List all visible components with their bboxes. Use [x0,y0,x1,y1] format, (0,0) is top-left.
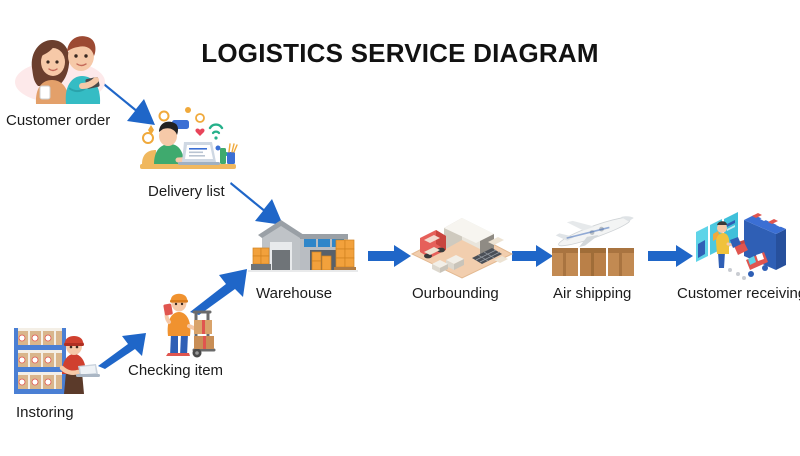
node-label-air-shipping: Air shipping [553,285,631,302]
arrow-air-shipping-to-customer-receiving [648,244,694,268]
airplane-over-cardboard-boxes-icon [546,212,642,280]
worker-with-clipboard-and-hand-truck-icon [156,286,218,358]
node-label-instoring: Instoring [16,404,74,421]
arrow-warehouse-to-ourbounding [368,244,412,268]
person-at-laptop-desk-icon [134,104,242,176]
warehouse-worker-with-laptop-and-racks-icon [10,322,102,400]
warehouse-building-with-boxes-icon [248,212,358,280]
two-customers-with-phone-icon [14,26,106,104]
node-label-delivery-list: Delivery list [148,183,225,200]
node-label-ourbounding: Ourbounding [412,285,499,302]
logistics-diagram-canvas: LOGISTICS SERVICE DIAGRAM [0,0,800,456]
isometric-storefront-shopper-icon [694,212,792,282]
node-label-warehouse: Warehouse [256,285,332,302]
page-title: LOGISTICS SERVICE DIAGRAM [0,38,800,69]
isometric-loading-dock-truck-icon [410,210,514,280]
node-label-checking-item: Checking item [128,362,223,379]
node-label-customer-receiving: Customer receiving [677,285,800,302]
node-label-customer-order: Customer order [6,112,110,129]
